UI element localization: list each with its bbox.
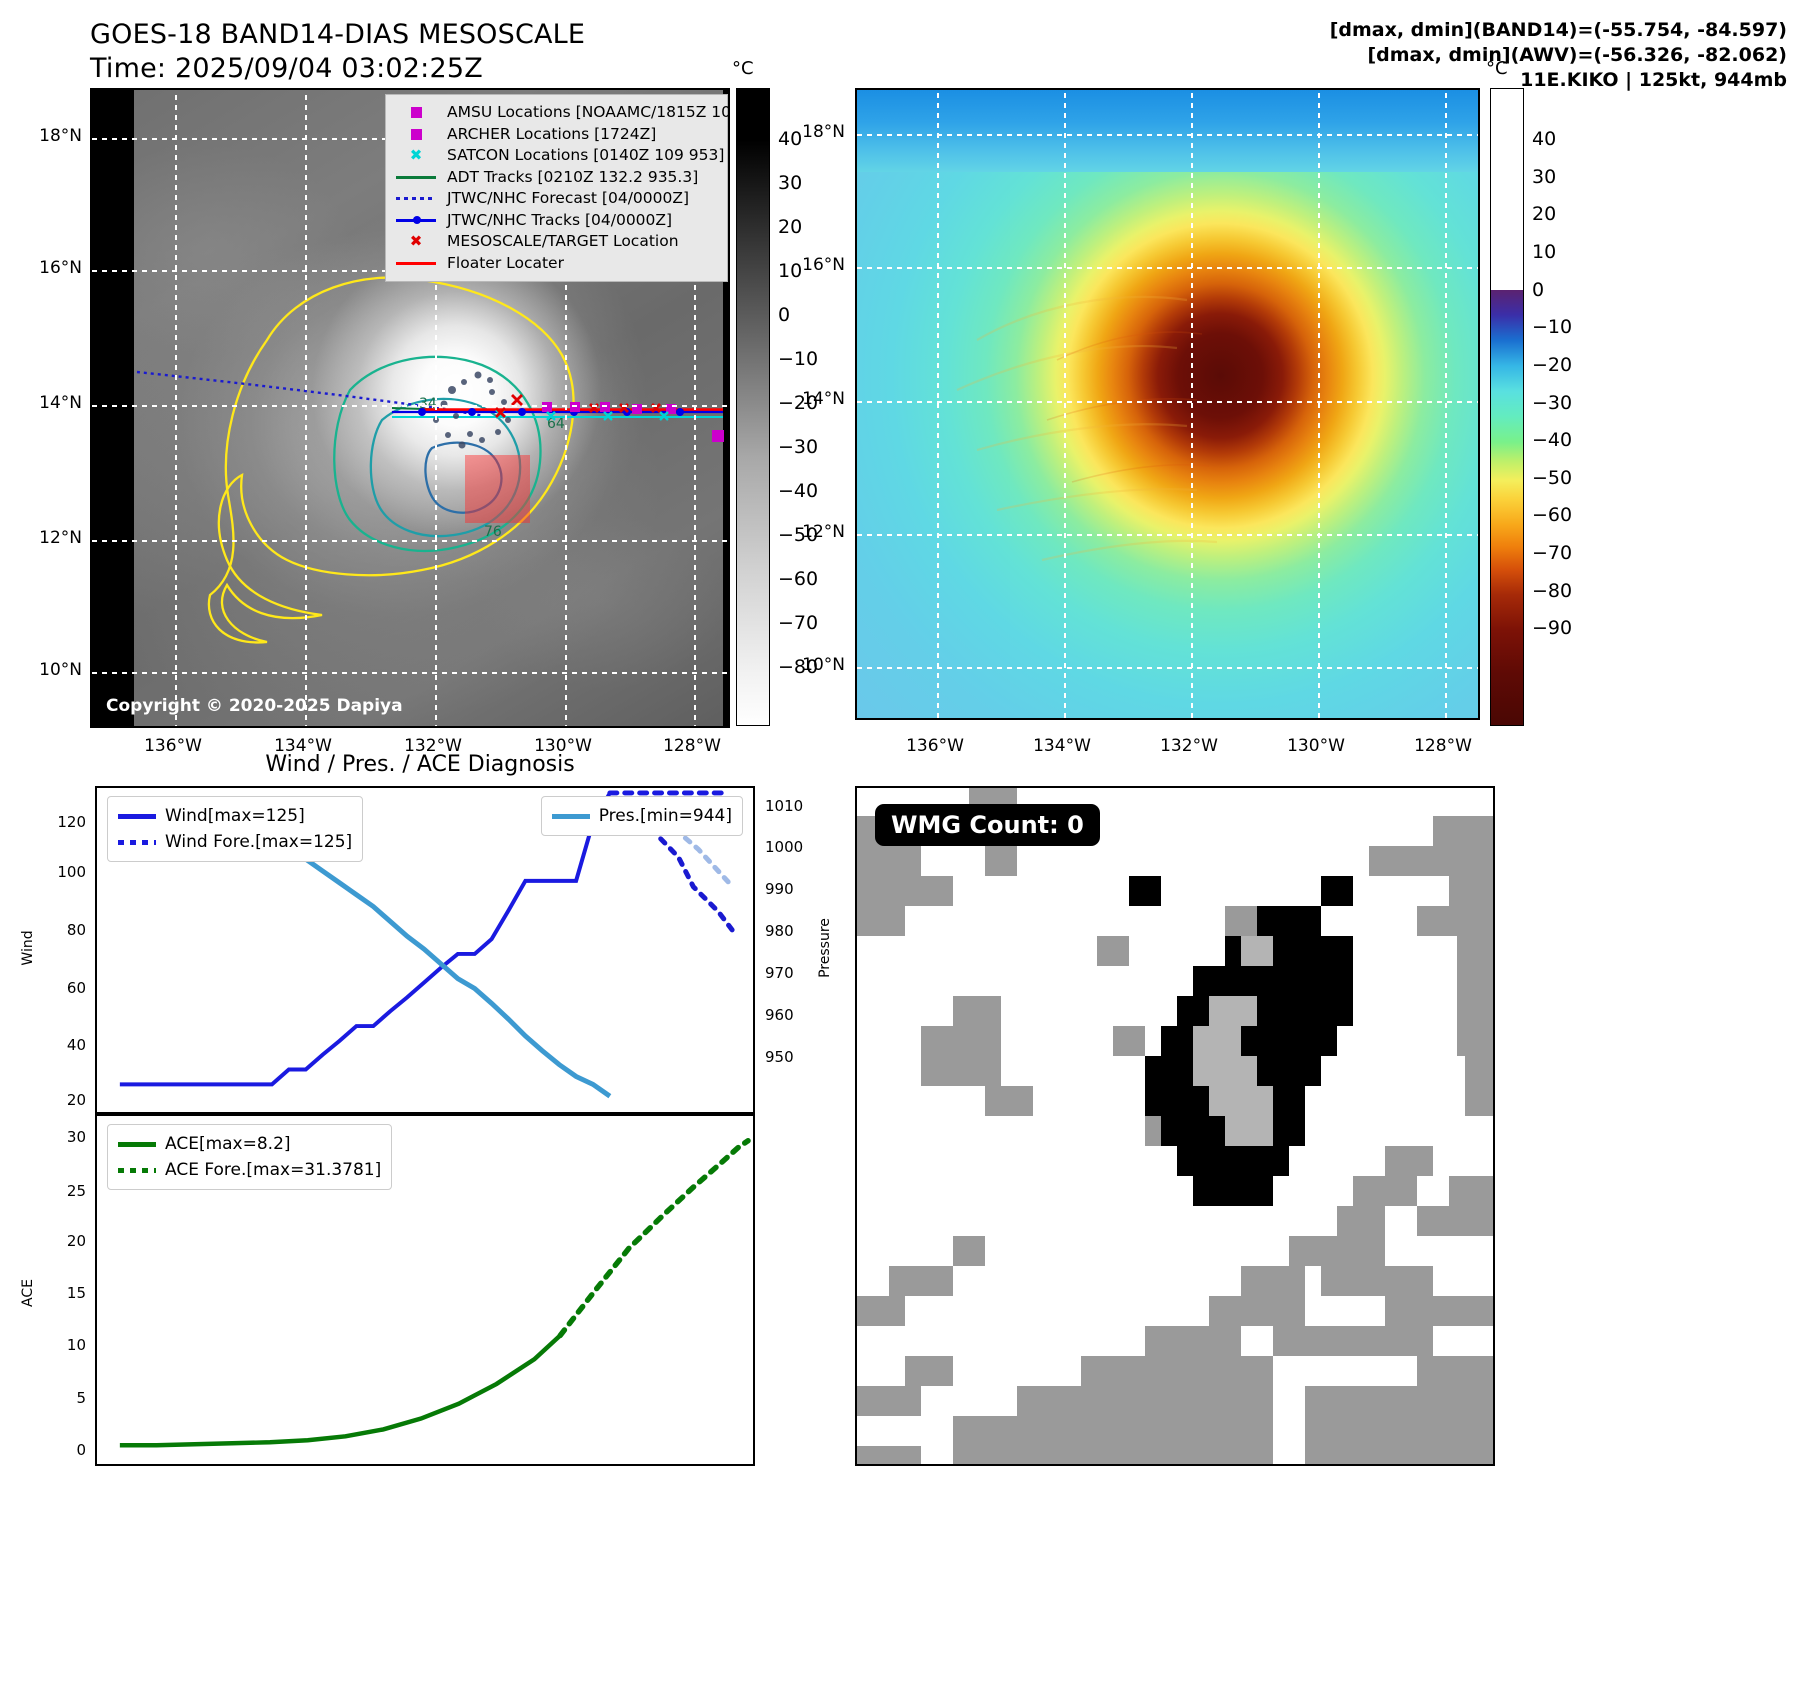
legend-item-amsu: AMSU Locations [NOAAMC/1815Z 104 973] bbox=[393, 102, 719, 124]
awv-colorbar-unit: °C bbox=[1486, 58, 1508, 79]
colorbar-tick: 30 bbox=[1532, 166, 1556, 188]
legend-item-pressure: Pres.[min=944] bbox=[552, 803, 732, 829]
series-ace-forecast bbox=[560, 1141, 748, 1336]
colorbar-tick: −10 bbox=[1532, 316, 1572, 338]
pressure-ytick: 1000 bbox=[765, 838, 825, 856]
legend-label: JTWC/NHC Tracks [04/0000Z] bbox=[447, 210, 672, 232]
ace-ytick: 30 bbox=[38, 1128, 86, 1146]
ace-chart[interactable]: ACE[max=8.2] ACE Fore.[max=31.3781] bbox=[95, 1114, 755, 1466]
colorbar-tick: 20 bbox=[778, 216, 802, 238]
colorbar-tick: 40 bbox=[1532, 128, 1556, 150]
series-ace bbox=[120, 1335, 560, 1445]
ir-gridline-h bbox=[92, 540, 730, 542]
colorbar-tick: −60 bbox=[1532, 504, 1572, 526]
legend-item-archer: ARCHER Locations [1724Z] bbox=[393, 124, 719, 146]
cyan-x-icon: ✖ bbox=[393, 149, 439, 163]
green-dotted-line-icon bbox=[118, 1168, 156, 1173]
colorbar-tick: −60 bbox=[778, 568, 818, 590]
colorbar-tick: −50 bbox=[1532, 467, 1572, 489]
colorbar-tick: −30 bbox=[778, 436, 818, 458]
legend-label: MESOSCALE/TARGET Location bbox=[447, 231, 679, 253]
magenta-square-icon bbox=[393, 106, 439, 120]
colorbar-tick: −30 bbox=[1532, 392, 1572, 414]
pressure-ytick: 960 bbox=[765, 1006, 825, 1024]
pressure-ytick: 950 bbox=[765, 1048, 825, 1066]
legend-label: ACE[max=8.2] bbox=[165, 1131, 291, 1157]
awv-satellite-panel[interactable] bbox=[855, 88, 1480, 720]
blue-line-icon bbox=[118, 814, 156, 819]
ir-gridline-h bbox=[92, 405, 730, 407]
ir-ytick: 18°N bbox=[22, 126, 82, 146]
green-line-icon bbox=[393, 170, 439, 184]
red-x-icon: ✖ bbox=[393, 235, 439, 249]
awv-xtick: 130°W bbox=[1287, 736, 1345, 756]
pressure-ytick: 990 bbox=[765, 880, 825, 898]
ace-ytick: 10 bbox=[38, 1336, 86, 1354]
legend-label: AMSU Locations [NOAAMC/1815Z 104 973] bbox=[447, 102, 730, 124]
awv-gridline-v bbox=[1064, 90, 1066, 718]
legend-item-jtwc-forecast: JTWC/NHC Forecast [04/0000Z] bbox=[393, 188, 719, 210]
colorbar-tick: −80 bbox=[1532, 580, 1572, 602]
legend-item-ace-forecast: ACE Fore.[max=31.3781] bbox=[118, 1157, 381, 1183]
pressure-ytick: 970 bbox=[765, 964, 825, 982]
wind-ytick: 120 bbox=[38, 813, 86, 831]
colorbar-tick: −90 bbox=[1532, 617, 1572, 639]
ace-ytick: 5 bbox=[38, 1389, 86, 1407]
wind-ytick: 100 bbox=[38, 863, 86, 881]
awv-colorbar-gradient bbox=[1490, 88, 1524, 726]
legend-item-wind-forecast: Wind Fore.[max=125] bbox=[118, 829, 352, 855]
awv-xtick: 132°W bbox=[1160, 736, 1218, 756]
legend-item-wind: Wind[max=125] bbox=[118, 803, 352, 829]
svg-text:76: 76 bbox=[484, 524, 502, 540]
page-title-line2: Time: 2025/09/04 03:02:25Z bbox=[90, 52, 585, 86]
colorbar-tick: 20 bbox=[1532, 203, 1556, 225]
legend-item-ace: ACE[max=8.2] bbox=[118, 1131, 381, 1157]
wind-pressure-chart[interactable]: Wind[max=125] Wind Fore.[max=125] Pres.[… bbox=[95, 786, 755, 1114]
header-stats: [dmax, dmin](BAND14)=(-55.754, -84.597) … bbox=[1007, 18, 1787, 93]
ir-gridline-v bbox=[305, 90, 307, 728]
awv-xtick: 134°W bbox=[1033, 736, 1091, 756]
awv-colorbar[interactable]: °C 40 30 20 10 0 −10 −20 −30 −40 −50 −60… bbox=[1490, 88, 1600, 726]
awv-gridline-v bbox=[937, 90, 939, 718]
wind-axis-label: Wind bbox=[20, 918, 36, 978]
colorbar-tick: 0 bbox=[778, 304, 790, 326]
legend-label: ADT Tracks [0210Z 132.2 935.3] bbox=[447, 167, 698, 189]
colorbar-tick: −20 bbox=[1532, 354, 1572, 376]
awv-gridline-v bbox=[1191, 90, 1193, 718]
ir-ytick: 12°N bbox=[22, 528, 82, 548]
awv-gridline-v bbox=[1318, 90, 1320, 718]
colorbar-tick: −40 bbox=[778, 480, 818, 502]
awv-xtick: 128°W bbox=[1414, 736, 1472, 756]
legend-label: ACE Fore.[max=31.3781] bbox=[165, 1157, 381, 1183]
awv-ytick: 14°N bbox=[785, 389, 845, 409]
pressure-ytick: 980 bbox=[765, 922, 825, 940]
awv-ytick: 16°N bbox=[785, 255, 845, 275]
blue-line-marker-icon bbox=[393, 213, 439, 227]
awv-xtick: 136°W bbox=[906, 736, 964, 756]
awv-gridline-h bbox=[857, 401, 1478, 403]
awv-gridline-h bbox=[857, 134, 1478, 136]
ir-ytick: 14°N bbox=[22, 393, 82, 413]
ir-legend: AMSU Locations [NOAAMC/1815Z 104 973] AR… bbox=[385, 94, 728, 282]
legend-label: Wind Fore.[max=125] bbox=[165, 829, 352, 855]
awv-ytick: 10°N bbox=[785, 655, 845, 675]
wmg-cellular-map bbox=[857, 788, 1495, 1466]
ir-ytick: 16°N bbox=[22, 258, 82, 278]
colorbar-tick: 10 bbox=[1532, 241, 1556, 263]
awv-gridline-h bbox=[857, 667, 1478, 669]
legend-item-floater-locater: Floater Locater bbox=[393, 253, 719, 275]
legend-item-satcon: ✖ SATCON Locations [0140Z 109 953] bbox=[393, 145, 719, 167]
pressure-chart-legend: Pres.[min=944] bbox=[541, 796, 743, 836]
awv-ytick: 18°N bbox=[785, 122, 845, 142]
colorbar-tick: 0 bbox=[1532, 279, 1544, 301]
ace-ytick: 25 bbox=[38, 1182, 86, 1200]
pressure-axis-label: Pressure bbox=[817, 908, 833, 988]
page-title-line1: GOES-18 BAND14-DIAS MESOSCALE bbox=[90, 18, 585, 52]
wind-ytick: 60 bbox=[38, 979, 86, 997]
colorbar-tick: −70 bbox=[778, 612, 818, 634]
wind-ytick: 80 bbox=[38, 921, 86, 939]
wmg-count-badge: WMG Count: 0 bbox=[875, 804, 1100, 846]
stat-band14-dmax-dmin: [dmax, dmin](BAND14)=(-55.754, -84.597) bbox=[1007, 18, 1787, 43]
legend-label: Pres.[min=944] bbox=[599, 803, 732, 829]
legend-label: ARCHER Locations [1724Z] bbox=[447, 124, 656, 146]
ir-ytick: 10°N bbox=[22, 660, 82, 680]
green-line-icon bbox=[118, 1142, 156, 1147]
lightblue-line-icon bbox=[552, 814, 590, 819]
legend-item-jtwc-tracks: JTWC/NHC Tracks [04/0000Z] bbox=[393, 210, 719, 232]
blue-dotted-line-icon bbox=[118, 840, 156, 845]
awv-gridline-h bbox=[857, 267, 1478, 269]
pressure-ytick: 1010 bbox=[765, 797, 825, 815]
ir-colorbar-gradient bbox=[736, 88, 770, 726]
ace-axis-label: ACE bbox=[20, 1263, 36, 1323]
legend-item-mesoscale-target: ✖ MESOSCALE/TARGET Location bbox=[393, 231, 719, 253]
legend-label: JTWC/NHC Forecast [04/0000Z] bbox=[447, 188, 689, 210]
blue-dotted-line-icon bbox=[393, 192, 439, 206]
ir-gridline-h bbox=[92, 672, 730, 674]
colorbar-tick: −10 bbox=[778, 348, 818, 370]
ace-ytick: 15 bbox=[38, 1284, 86, 1302]
wmg-panel[interactable]: WMG Count: 0 bbox=[855, 786, 1495, 1466]
legend-label: SATCON Locations [0140Z 109 953] bbox=[447, 145, 724, 167]
ir-colorbar-unit: °C bbox=[732, 58, 754, 79]
colorbar-tick: −70 bbox=[1532, 542, 1572, 564]
awv-colorbar-ticks: 40 30 20 10 0 −10 −20 −30 −40 −50 −60 −7… bbox=[1532, 88, 1602, 726]
ace-ytick: 20 bbox=[38, 1232, 86, 1250]
legend-label: Wind[max=125] bbox=[165, 803, 305, 829]
awv-ytick: 12°N bbox=[785, 522, 845, 542]
colorbar-tick: −40 bbox=[1532, 429, 1572, 451]
ir-gridline-v bbox=[175, 90, 177, 728]
wind-ytick: 40 bbox=[38, 1036, 86, 1054]
colorbar-tick: 30 bbox=[778, 172, 802, 194]
awv-texture bbox=[857, 90, 1480, 720]
wind-ytick: 20 bbox=[38, 1091, 86, 1109]
page-title: GOES-18 BAND14-DIAS MESOSCALE Time: 2025… bbox=[90, 18, 585, 86]
red-line-icon bbox=[393, 256, 439, 270]
legend-label: Floater Locater bbox=[447, 253, 564, 275]
wind-chart-legend: Wind[max=125] Wind Fore.[max=125] bbox=[107, 796, 363, 862]
ace-chart-legend: ACE[max=8.2] ACE Fore.[max=31.3781] bbox=[107, 1124, 392, 1190]
magenta-square-icon bbox=[393, 127, 439, 141]
ir-satellite-panel[interactable]: 34 64 76 bbox=[90, 88, 730, 728]
diagnosis-title: Wind / Pres. / ACE Diagnosis bbox=[90, 752, 750, 777]
legend-item-adt-tracks: ADT Tracks [0210Z 132.2 935.3] bbox=[393, 167, 719, 189]
copyright-text: Copyright © 2020-2025 Dapiya bbox=[106, 696, 403, 716]
awv-gridline-h bbox=[857, 534, 1478, 536]
stat-awv-dmax-dmin: [dmax, dmin](AWV)=(-56.326, -82.062) bbox=[1007, 43, 1787, 68]
ace-ytick: 0 bbox=[38, 1441, 86, 1459]
awv-gridline-v bbox=[1445, 90, 1447, 718]
